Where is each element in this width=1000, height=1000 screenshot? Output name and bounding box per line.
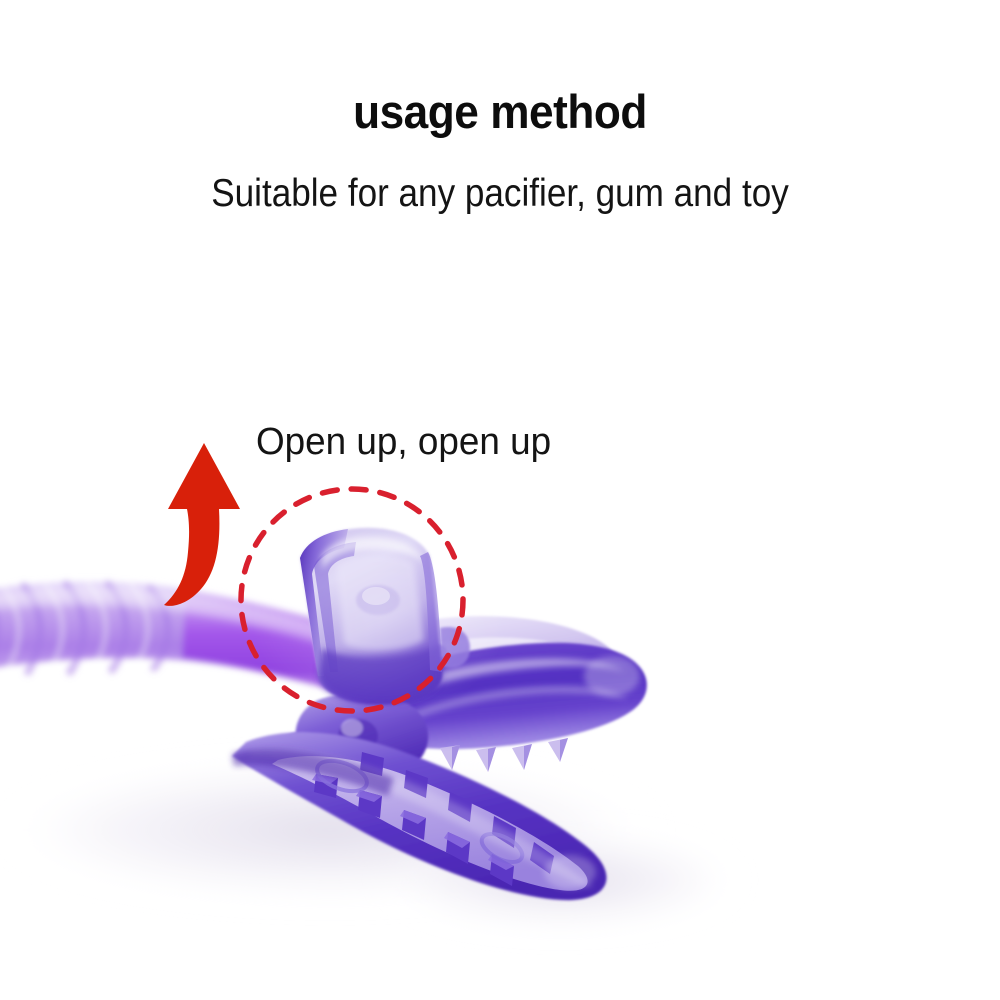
page-subtitle: Suitable for any pacifier, gum and toy — [50, 172, 950, 216]
product-usage-image: usage method Suitable for any pacifier, … — [0, 0, 1000, 1000]
page-title: usage method — [30, 84, 970, 139]
product-photo-illustration — [0, 0, 1000, 1000]
callout-label: Open up, open up — [256, 421, 551, 464]
